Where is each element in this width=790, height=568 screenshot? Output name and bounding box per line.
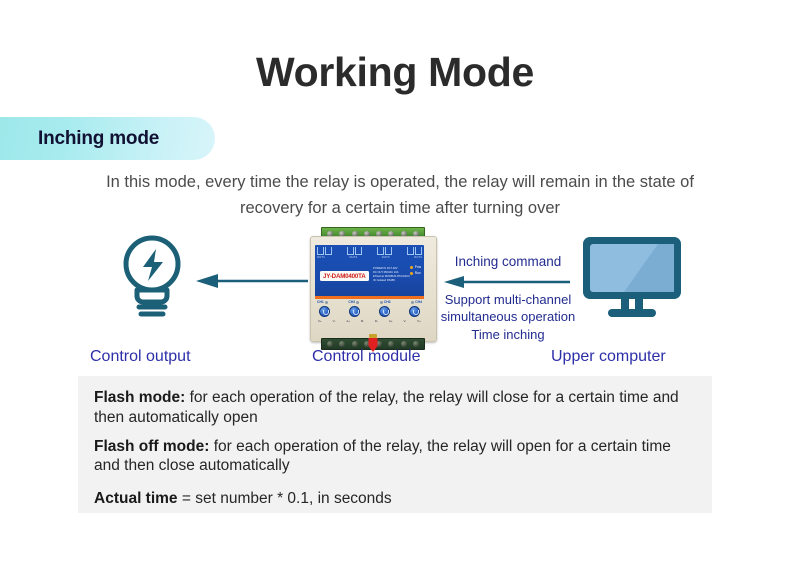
device-output-label: OUT1 <box>317 256 325 259</box>
device-channel-label: CH4 <box>415 300 422 304</box>
power-led-icon <box>410 266 413 269</box>
device-spec-text: POWER IN DC7-30V DC OUT 250VAC 10A ETHer… <box>373 267 410 283</box>
caption-upper-computer: Upper computer <box>551 348 666 366</box>
note-flash-mode-title: Flash mode: <box>94 389 185 406</box>
inching-command-label: Inching command <box>440 254 576 269</box>
device-relay-buttons <box>319 306 420 317</box>
inching-note-line: Support multi-channel <box>432 291 584 308</box>
note-actual-time: Actual time = set number * 0.1, in secon… <box>94 489 696 509</box>
note-flash-mode: Flash mode: for each operation of the re… <box>94 388 696 428</box>
inching-command-arrow-icon <box>444 274 570 290</box>
device-output-label: OUT2 <box>349 256 357 259</box>
device-output-label: OUT4 <box>414 256 422 259</box>
note-actual-time-title: Actual time <box>94 490 178 507</box>
device-terminal-label: V- <box>333 319 336 323</box>
device-led-indicators: Pow Run <box>410 264 421 276</box>
relay-button-ch1 <box>319 306 330 317</box>
device-channel-label: CH2 <box>348 300 355 304</box>
device-output-labels: OUT1 OUT2 OUT3 OUT4 <box>317 256 422 259</box>
device-spec-line: IIC Isolated RS485 <box>373 279 410 283</box>
note-flash-off-mode-title: Flash off mode: <box>94 438 209 455</box>
run-led-icon <box>410 272 413 275</box>
relay-button-ch4 <box>409 306 420 317</box>
device-terminal-label: A+ <box>389 319 393 323</box>
device-channel-label: CH3 <box>384 300 391 304</box>
mode-badge: Inching mode <box>0 117 215 160</box>
notes-panel: Flash mode: for each operation of the re… <box>78 376 712 513</box>
light-bulb-icon <box>118 232 186 318</box>
note-actual-time-text: = set number * 0.1, in seconds <box>178 490 392 507</box>
device-terminal-label: V+ <box>318 319 322 323</box>
device-model-label: JY-DAM0400TA <box>320 271 369 281</box>
mode-badge-label: Inching mode <box>38 128 159 150</box>
device-orange-stripe <box>315 296 424 299</box>
inching-note-line: Time inching <box>432 326 584 343</box>
output-arrow-icon <box>196 272 308 290</box>
device-led-label: Run <box>415 271 421 275</box>
device-terminal-label: D- <box>375 319 378 323</box>
page-title: Working Mode <box>0 52 790 93</box>
note-flash-off-mode: Flash off mode: for each operation of th… <box>94 437 696 477</box>
device-channel-labels: CH1 CH2 CH3 CH4 <box>317 300 422 304</box>
device-terminal-label: B- <box>361 319 364 323</box>
device-terminal-labels: V+ V- A+ B- D- A+ V- V+ <box>318 319 421 323</box>
caption-control-module: Control module <box>312 348 421 366</box>
relay-button-ch3 <box>379 306 390 317</box>
mode-description: In this mode, every time the relay is op… <box>95 170 705 221</box>
device-channel-label: CH1 <box>317 300 324 304</box>
device-terminal-label: A+ <box>346 319 350 323</box>
inching-note-line: simultaneous operation <box>432 308 584 325</box>
device-terminal-label: V+ <box>417 319 421 323</box>
device-terminal-label: V- <box>403 319 406 323</box>
caption-control-output: Control output <box>90 348 191 366</box>
upper-computer-monitor-icon <box>580 234 684 320</box>
control-module-device: OUT1 OUT2 OUT3 OUT4 JY-DAM0400TA POWER I… <box>307 226 438 350</box>
device-led-label: Pow <box>415 265 421 269</box>
device-front-panel: OUT1 OUT2 OUT3 OUT4 JY-DAM0400TA POWER I… <box>315 245 424 297</box>
device-output-terminals <box>317 247 422 255</box>
relay-button-ch2 <box>349 306 360 317</box>
inching-notes: Support multi-channel simultaneous opera… <box>432 291 584 343</box>
device-output-label: OUT3 <box>382 256 390 259</box>
